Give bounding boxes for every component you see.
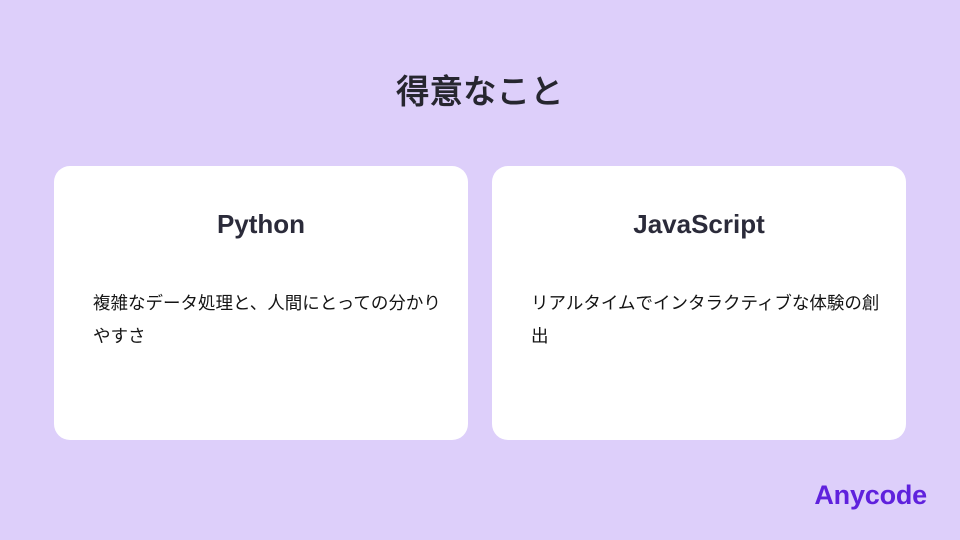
slide-canvas: 得意なこと Python 複雑なデータ処理と、人間にとっての分かりやすさ Jav…: [0, 0, 960, 540]
brand-logo: Anycode: [814, 481, 927, 511]
card-body-text: 複雑なデータ処理と、人間にとっての分かりやすさ: [93, 287, 444, 353]
card-title: JavaScript: [492, 209, 906, 240]
card-body-text: リアルタイムでインタラクティブな体験の創出: [531, 287, 882, 353]
page-title: 得意なこと: [0, 72, 960, 112]
card-title: Python: [54, 209, 468, 240]
skill-card-javascript: JavaScript リアルタイムでインタラクティブな体験の創出: [492, 166, 906, 440]
card-grid: Python 複雑なデータ処理と、人間にとっての分かりやすさ JavaScrip…: [54, 166, 906, 440]
skill-card-python: Python 複雑なデータ処理と、人間にとっての分かりやすさ: [54, 166, 468, 440]
